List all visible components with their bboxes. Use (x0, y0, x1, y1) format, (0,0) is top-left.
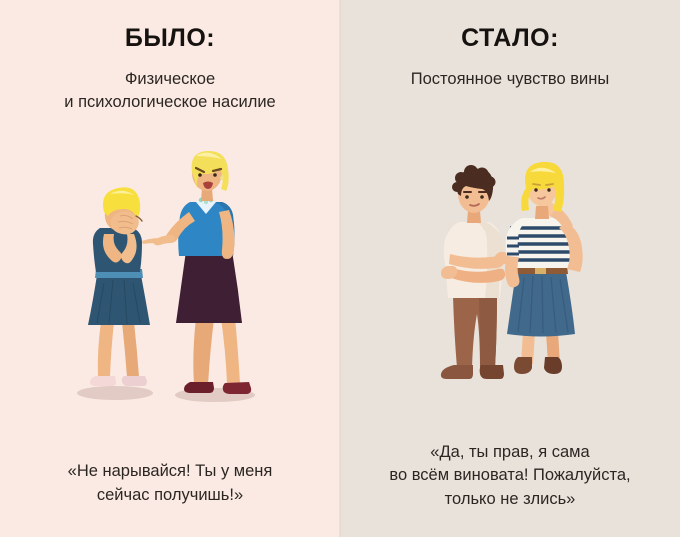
left-panel-subheading: Физическое и психологическое насилие (64, 68, 275, 114)
girl-shoe-left (90, 376, 116, 386)
right-panel-subheading-line1: Постоянное чувство вины (411, 68, 609, 91)
girl-skirt (88, 275, 150, 325)
woman-skirt (176, 251, 242, 323)
woman-shoe-right (223, 382, 251, 394)
right-panel-caption: «Да, ты прав, я сама во всём виновата! П… (340, 441, 680, 511)
figure-angry-woman (142, 151, 251, 394)
right-panel-subheading: Постоянное чувство вины (411, 68, 609, 91)
figure-man-arms-crossed (441, 165, 510, 379)
woman2-neck (535, 206, 549, 219)
woman-earring-icon (220, 176, 224, 180)
left-panel-heading: БЫЛО: (125, 26, 215, 51)
girl-leg-left (98, 322, 114, 377)
woman2-boot-left (514, 357, 532, 374)
woman2-eyebrow-left (533, 184, 540, 185)
comparison-poster: БЫЛО: Физическое и психологическое насил… (0, 0, 680, 537)
left-illustration (0, 150, 340, 412)
right-caption-line2: во всём виновата! Пожалуйста, (358, 464, 662, 487)
man-eye-left (465, 195, 469, 199)
right-panel-heading: СТАЛО: (461, 26, 559, 51)
figure-crying-girl (88, 187, 150, 386)
right-caption-line1: «Да, ты прав, я сама (358, 441, 662, 464)
left-caption-line1: «Не нарывайся! Ты у меня (18, 460, 322, 483)
girl-shoe-right (122, 376, 147, 386)
man-shoe-left (441, 365, 473, 379)
panel-before: БЫЛО: Физическое и психологическое насил… (0, 0, 340, 537)
woman-leg-right (221, 318, 240, 384)
woman2-boot-right (544, 357, 562, 374)
girl-shadow (77, 386, 153, 400)
panel-after: СТАЛО: Постоянное чувство вины (340, 0, 680, 537)
man-eye-right (480, 195, 484, 199)
woman-leg-left (193, 318, 214, 385)
panel-divider (339, 0, 341, 537)
woman2-eye-right (547, 188, 550, 191)
woman-eye-left (198, 173, 202, 177)
right-caption-line3: только не злись» (358, 488, 662, 511)
left-panel-subheading-line2: и психологическое насилие (64, 91, 275, 114)
woman-shoe-left (184, 382, 214, 393)
woman-eye-right (213, 173, 217, 177)
left-panel-subheading-line1: Физическое (64, 68, 275, 91)
girl-leg-right (122, 322, 139, 377)
man-shoe-right (480, 365, 504, 379)
left-caption-line2: сейчас получишь!» (18, 484, 322, 507)
left-panel-caption: «Не нарывайся! Ты у меня сейчас получишь… (0, 460, 340, 507)
woman2-arm-left (505, 256, 520, 287)
woman2-eye-left (534, 188, 537, 191)
girl-hands-covering-face (111, 211, 139, 234)
right-illustration (340, 150, 680, 412)
woman2-eyebrow-right (546, 184, 553, 185)
man-trousers-shading (479, 296, 497, 368)
figure-guilty-woman (505, 162, 583, 374)
